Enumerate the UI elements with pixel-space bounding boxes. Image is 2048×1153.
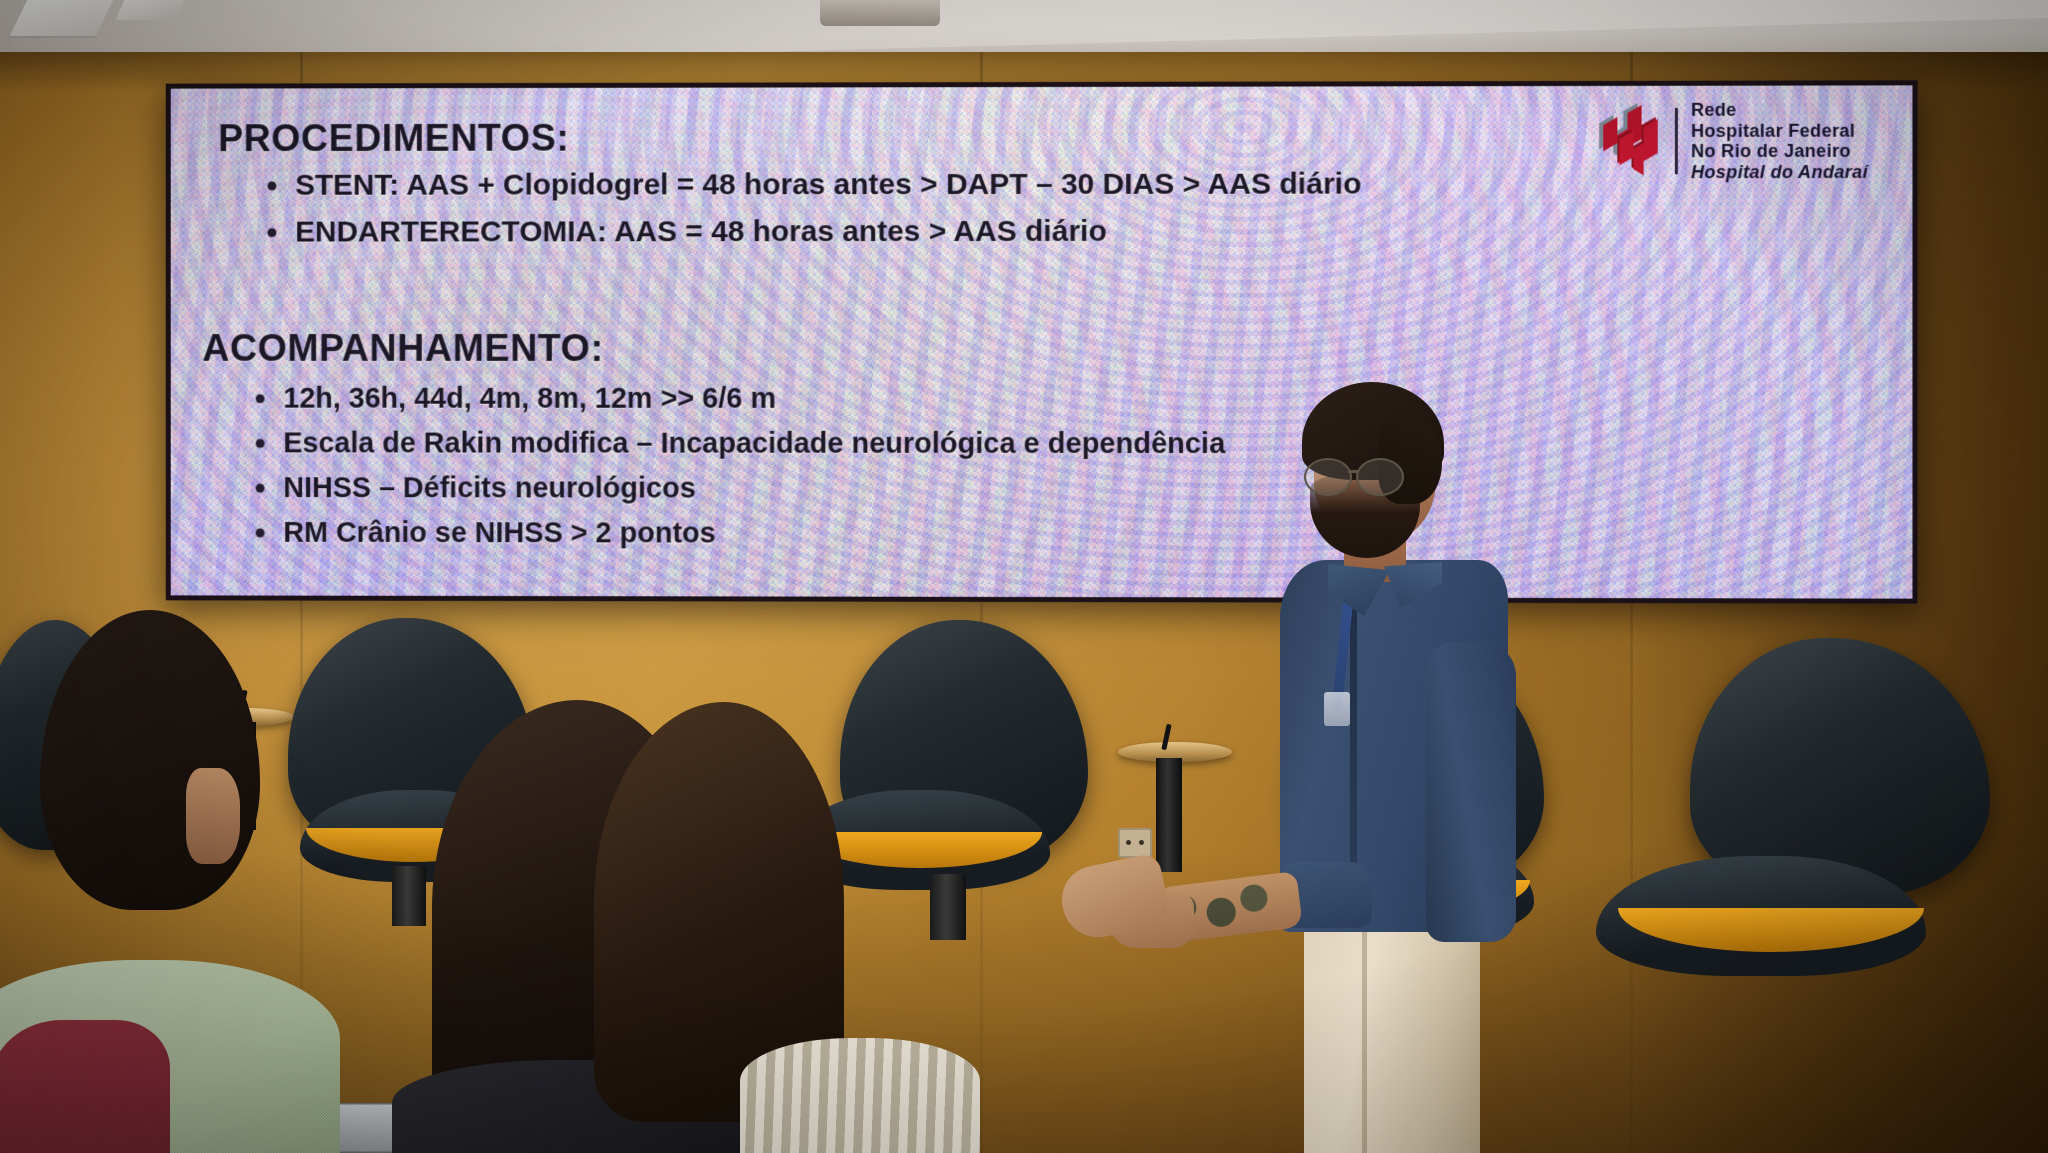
logo-line-rede: Rede <box>1691 100 1868 121</box>
led-screen: PROCEDIMENTOS: STENT: AAS + Clopidogrel … <box>171 85 1913 598</box>
isometric-red-h-cube-logo-icon <box>1593 103 1662 179</box>
wall-outlet <box>1118 828 1152 858</box>
bullet-item: ENDARTERECTOMIA: AAS = 48 horas antes > … <box>260 212 1362 253</box>
logo-line-rio-de-janeiro: No Rio de Janeiro <box>1691 141 1868 162</box>
logo-text-block: Rede Hospitalar Federal No Rio de Janeir… <box>1691 100 1868 183</box>
slide-heading-acompanhamento: ACOMPANHAMENTO: <box>202 328 603 371</box>
bullet-item: RM Crânio se NIHSS > 2 pontos <box>248 513 1226 554</box>
bullet-item: NIHSS – Déficits neurológicos <box>248 468 1226 509</box>
presentation-room-photo: PROCEDIMENTOS: STENT: AAS + Clopidogrel … <box>0 0 2048 1153</box>
ceiling-light-fixture <box>820 0 940 26</box>
slide-bullets-acompanhamento: 12h, 36h, 44d, 4m, 8m, 12m >> 6/6 m Esca… <box>248 379 1226 560</box>
audience-person-left-neck <box>186 768 240 864</box>
logo-line-hospitalar-federal: Hospitalar Federal <box>1691 120 1868 141</box>
presenter-glasses-icon <box>1304 458 1416 492</box>
led-screen-frame: PROCEDIMENTOS: STENT: AAS + Clopidogrel … <box>166 80 1918 603</box>
presenter-shirt-placket <box>1350 598 1357 878</box>
presenter-sleeve <box>1426 642 1516 942</box>
presenter-trouser-fold <box>1362 912 1367 1153</box>
logo-line-hospital-do-andarai: Hospital do Andaraí <box>1691 161 1868 182</box>
bullet-item: 12h, 36h, 44d, 4m, 8m, 12m >> 6/6 m <box>248 379 1226 419</box>
slide-bullets-procedimentos: STENT: AAS + Clopidogrel = 48 horas ante… <box>260 165 1362 260</box>
slide-content: PROCEDIMENTOS: STENT: AAS + Clopidogrel … <box>171 85 1913 598</box>
slide-heading-procedimentos: PROCEDIMENTOS: <box>218 118 569 161</box>
hospital-logo: Rede Hospitalar Federal No Rio de Janeir… <box>1593 100 1868 183</box>
bullet-item: Escala de Rakin modifica – Incapacidade … <box>248 424 1226 465</box>
presenter <box>1258 392 1558 1153</box>
presenter-badge <box>1324 692 1350 726</box>
logo-divider <box>1675 108 1678 174</box>
bullet-item: STENT: AAS + Clopidogrel = 48 horas ante… <box>260 165 1362 206</box>
ceiling-vent-secondary-icon <box>116 0 185 20</box>
